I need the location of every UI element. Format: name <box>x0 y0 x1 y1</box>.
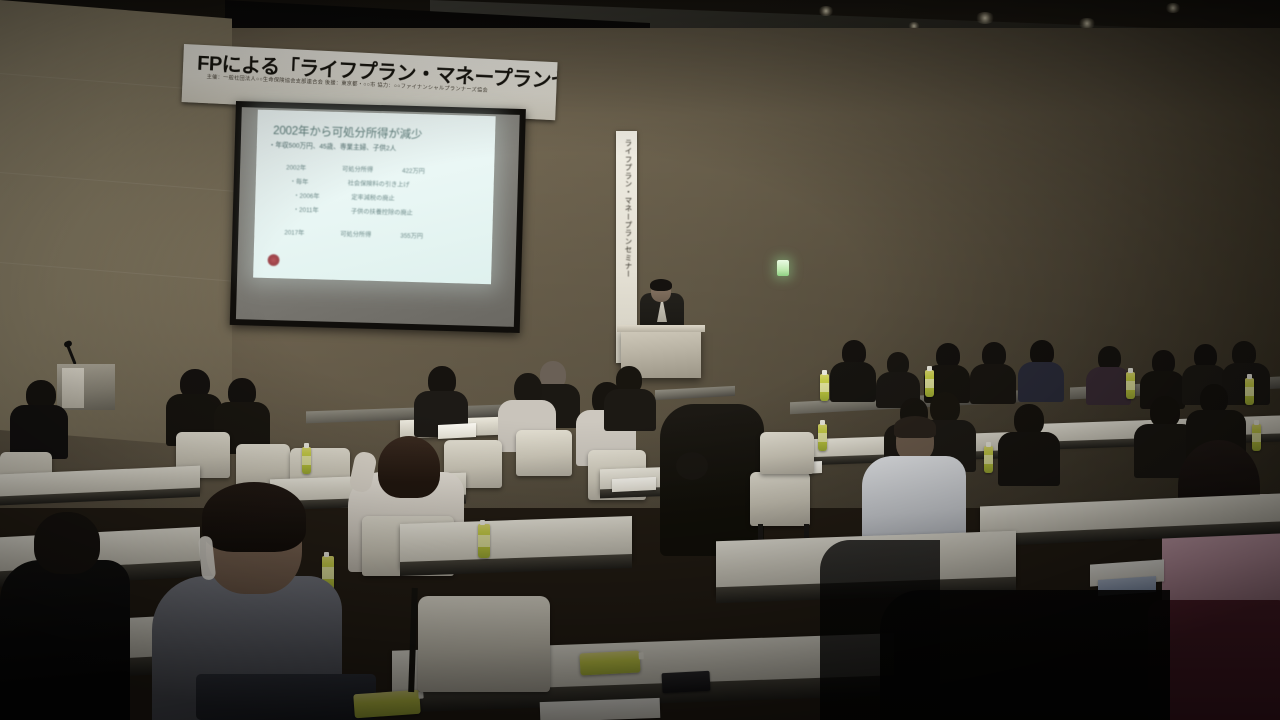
green-tea-bottle <box>1126 372 1135 399</box>
green-tea-bottle <box>820 374 829 401</box>
seminar-room-photo: FPによる「ライフプラン・マネープランセミナー」 主催：一般社団法人○○生命保険… <box>0 0 1280 720</box>
attendee-body <box>830 362 876 402</box>
handout-paper <box>540 698 661 720</box>
green-tea-bottle <box>984 446 993 473</box>
attendee-hair <box>202 482 306 552</box>
projected-slide: 2002年から可処分所得が減少 ・年収500万円、45歳、専業主婦、子供2人 2… <box>253 110 496 285</box>
handout-paper <box>612 477 656 492</box>
green-tea-bottle <box>1245 378 1254 405</box>
bottle-label <box>925 379 934 388</box>
foreground-shadow <box>820 540 940 720</box>
attendee-body <box>998 432 1060 486</box>
slide-line-year: ・2011年 <box>293 205 319 215</box>
attendee-body <box>1018 362 1064 402</box>
attendee-head <box>34 512 100 574</box>
smartphone <box>662 671 711 693</box>
attendee-body <box>0 560 130 720</box>
stacking-chair <box>760 432 814 474</box>
bottle-label <box>478 535 490 547</box>
green-tea-bottle <box>302 447 311 474</box>
attendee-hair <box>894 416 936 438</box>
bottle-label <box>818 433 827 442</box>
green-tea-bottle-lying <box>579 650 640 675</box>
slide-line-year: ・毎年 <box>290 177 309 187</box>
slide-line-value: 422万円 <box>402 166 425 176</box>
projection-screen: 2002年から可処分所得が減少 ・年収500万円、45歳、専業主婦、子供2人 2… <box>230 101 526 333</box>
green-tea-bottle <box>925 370 934 397</box>
bottle-label <box>302 456 311 465</box>
side-lectern-face <box>62 368 84 408</box>
handout-paper <box>438 423 476 439</box>
speaker-hair <box>650 279 672 291</box>
downlight <box>818 6 834 16</box>
stacking-chair <box>418 596 550 692</box>
green-tea-bottle-lying <box>353 690 421 719</box>
exit-sign-icon <box>777 260 789 276</box>
slide-line-label: 子供の扶養控除の廃止 <box>351 206 413 217</box>
attendee-head <box>676 452 708 480</box>
green-tea-bottle <box>1252 424 1261 451</box>
stacking-chair <box>516 430 572 476</box>
attendee-bent-over <box>660 404 764 556</box>
slide-line-year: ・2006年 <box>293 191 319 201</box>
bottle-label <box>984 455 993 464</box>
slide-line-label: 社会保険料の引き上げ <box>348 178 410 189</box>
downlight <box>1165 3 1181 13</box>
attendee-body <box>604 389 656 431</box>
downlight <box>975 12 995 24</box>
attendee-body <box>10 405 68 459</box>
vertical-banner-text: ライフプラン・マネープランセミナー <box>619 139 634 278</box>
slide-line-year: 2002年 <box>286 162 306 172</box>
stacking-chair <box>196 674 376 720</box>
podium-top <box>617 325 705 332</box>
stacking-chair <box>750 472 810 526</box>
green-tea-bottle <box>818 424 827 451</box>
slide-line-value: 355万円 <box>400 231 423 241</box>
bottle-label <box>322 567 334 579</box>
bottle-label <box>820 383 829 392</box>
slide-logo-icon <box>267 254 279 266</box>
slide-line-label: 定率減税の廃止 <box>351 192 395 202</box>
green-tea-bottle <box>478 524 490 558</box>
attendee-body <box>970 364 1016 404</box>
slide-line-label: 可処分所得 <box>340 229 371 239</box>
bottle-label <box>1252 433 1261 442</box>
bottle-label <box>1126 381 1135 390</box>
attendee-hair <box>378 436 440 498</box>
slide-line-label: 可処分所得 <box>342 164 373 174</box>
slide-line-year: 2017年 <box>284 227 304 237</box>
attendee-body <box>1086 367 1131 405</box>
bottle-label <box>1245 387 1254 396</box>
